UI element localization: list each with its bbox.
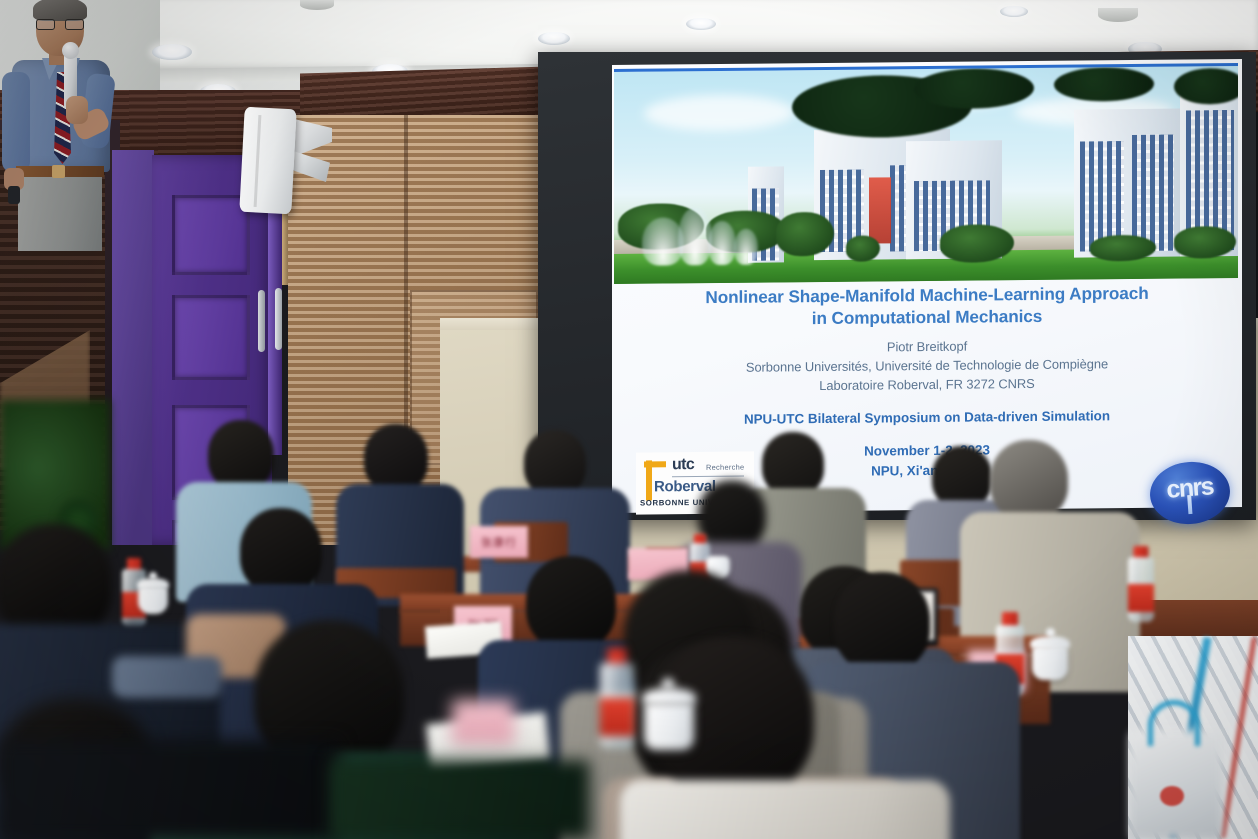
conference-photo-scene: Nonlinear Shape-Manifold Machine-Learnin… <box>0 0 1258 839</box>
teacup <box>644 702 694 750</box>
person-head <box>0 524 112 640</box>
wall-speaker <box>239 107 296 215</box>
person-head <box>524 430 586 496</box>
tote-bag-handle <box>1148 700 1200 746</box>
water-bottle <box>1128 546 1154 622</box>
person-head <box>208 420 274 490</box>
downlight-5 <box>686 18 716 30</box>
person-head <box>932 446 992 508</box>
person-head <box>834 572 930 672</box>
door-handle-right[interactable] <box>275 288 282 350</box>
person-head <box>762 432 824 496</box>
slide-event-title: NPU-UTC Bilateral Symposium on Data-driv… <box>612 407 1242 428</box>
microphone-capsule-icon <box>62 42 79 59</box>
downlight-1 <box>152 44 192 60</box>
building-banner <box>869 177 891 243</box>
presenter-trousers <box>18 175 102 251</box>
teacup <box>1032 646 1068 680</box>
person-shirt-cuff <box>112 656 222 698</box>
water-bottle <box>600 648 634 748</box>
presenter-belt-buckle <box>52 165 65 178</box>
person-head <box>526 556 616 650</box>
teacup-knob <box>662 678 674 690</box>
foreground-silhouette <box>330 760 590 839</box>
teacup-knob <box>1046 628 1055 637</box>
foreground-silhouette <box>0 740 340 839</box>
presenter-hair <box>33 0 87 21</box>
person-head <box>240 508 322 594</box>
tote-bag-logo <box>1160 786 1184 806</box>
eyeglasses-icon <box>36 19 84 30</box>
teacup-lid <box>1030 636 1070 650</box>
person-torso <box>620 780 950 839</box>
door-handle-left[interactable] <box>258 290 265 352</box>
slide-campus-photo <box>614 63 1238 284</box>
person-head <box>990 440 1068 520</box>
slide-title: Nonlinear Shape-Manifold Machine-Learnin… <box>612 279 1242 331</box>
presenter-left-arm <box>2 72 30 172</box>
door-panel-2 <box>172 295 250 380</box>
ceiling-sprinkler-2 <box>1098 8 1138 22</box>
downlight-4 <box>538 32 570 45</box>
door-jamb-left <box>112 150 154 545</box>
person-head <box>364 424 428 492</box>
utc-logo-mark-horizontal <box>644 461 666 467</box>
downlight-7 <box>1000 6 1028 17</box>
presenter-right-hand <box>66 96 88 124</box>
name-card <box>452 700 514 744</box>
presentation-clicker <box>8 186 20 204</box>
name-card: 张康行 <box>470 526 528 558</box>
utc-logo-subtitle: Recherche <box>706 463 744 472</box>
teacup-knob <box>149 572 157 580</box>
teacup-lid <box>642 688 696 706</box>
teacup <box>138 586 168 614</box>
door-panel-1 <box>172 195 250 275</box>
ceiling-sprinkler-1 <box>300 0 334 10</box>
tote-bag <box>1130 730 1222 839</box>
utc-logo-wordmark: utc <box>672 456 694 474</box>
